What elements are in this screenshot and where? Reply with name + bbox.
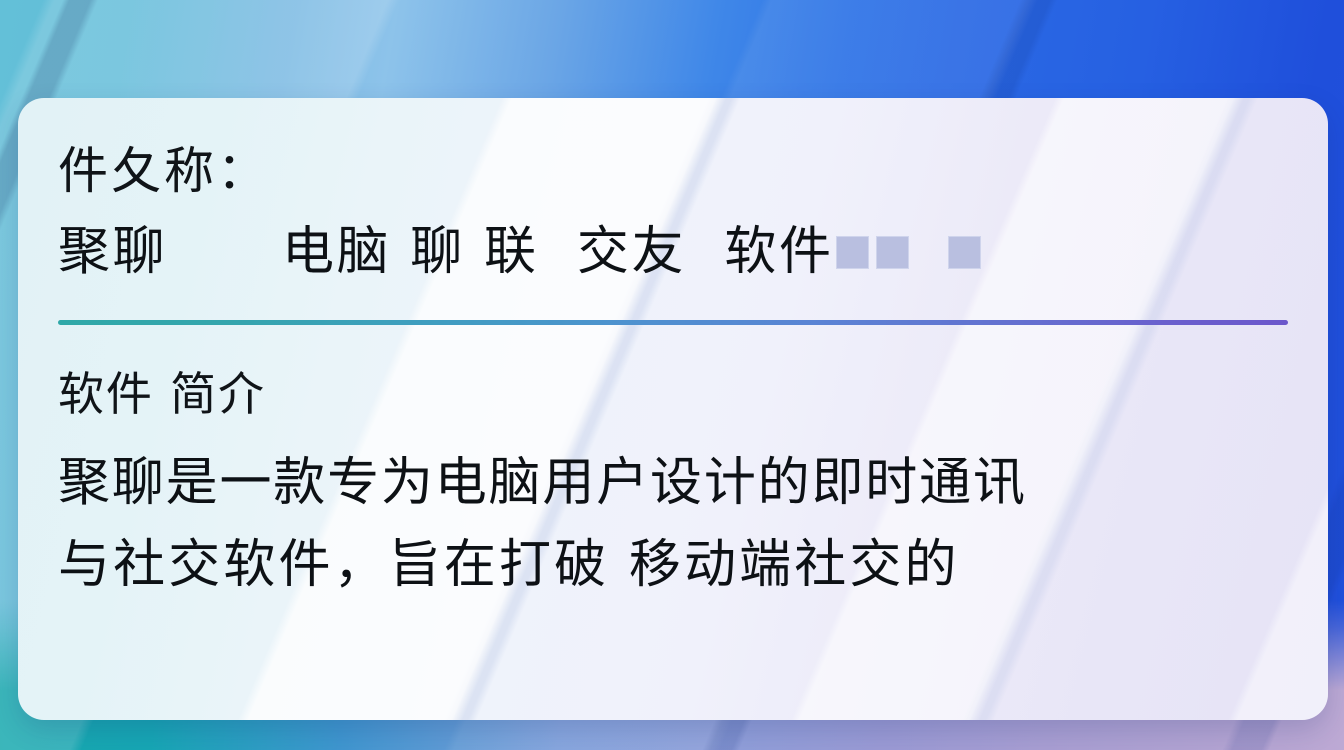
intro-body-line-1: 聚聊是一款专为电脑用户设计的即时通讯: [58, 457, 1288, 509]
intro-body-line-2: 与社交软件，旨在打破 移动端社交的: [58, 539, 1288, 591]
card-content: 件夂称： 聚聊 电脑 聊 联 交友 软件 软件 简介 聚聊是一款专为电脑用户设计…: [18, 98, 1328, 720]
missing-glyph-group: [836, 236, 981, 269]
section-title-intro: 软件 简介: [58, 371, 1288, 417]
missing-glyph-box: [948, 236, 981, 269]
screenshot-stage: 件夂称： 聚聊 电脑 聊 联 交友 软件 软件 简介 聚聊是一款专为电脑用户设计…: [0, 0, 1344, 750]
software-name-label: 件夂称：: [58, 146, 1288, 196]
software-info-card: 件夂称： 聚聊 电脑 聊 联 交友 软件 软件 简介 聚聊是一款专为电脑用户设计…: [18, 98, 1328, 720]
software-name-value: 聚聊 电脑 聊 联 交友 软件: [58, 226, 834, 278]
software-name-row: 聚聊 电脑 聊 联 交友 软件: [58, 226, 1288, 278]
missing-glyph-box: [836, 236, 869, 269]
missing-glyph-box: [876, 236, 909, 269]
section-divider: [58, 320, 1288, 325]
